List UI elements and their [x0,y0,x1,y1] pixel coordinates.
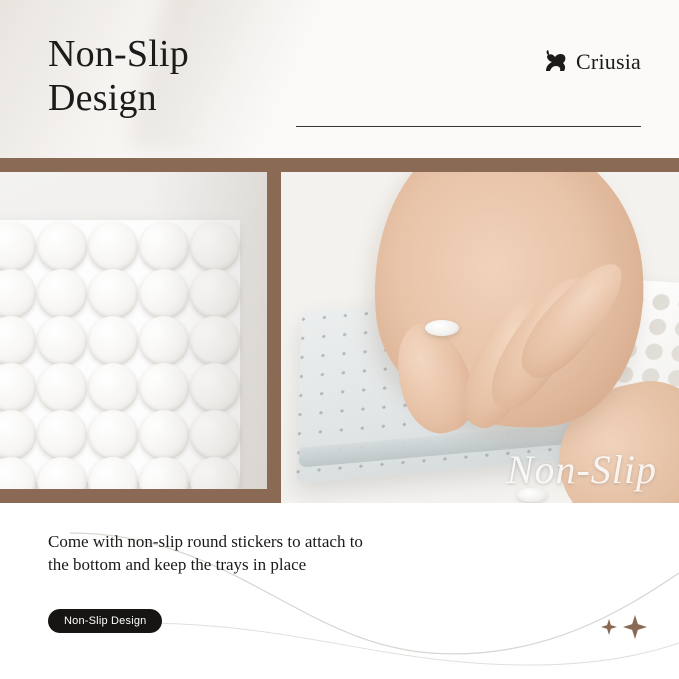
sticker-dot [88,410,138,460]
sticker-dot [0,457,36,489]
sticker-dot [88,222,138,272]
sparkle-icon [623,615,647,639]
brand-logo-group: Criusia [543,48,641,76]
sticker-dot [37,222,87,272]
sticker-dot [88,316,138,366]
sticker-dot [0,222,36,272]
sticker-in-hand [425,320,459,336]
sparkle-icon [601,619,617,635]
status-badge: Non-Slip Design [48,609,162,633]
header-section: Non-Slip Design Criusia [0,0,679,158]
footer-section: Come with non-slip round stickers to att… [0,503,679,679]
image-watermark: Non-Slip [507,446,657,493]
sticker-dot [37,410,87,460]
sticker-dot [37,457,87,489]
page-title: Non-Slip Design [48,32,189,120]
panel-shadow [150,172,267,489]
sticker-dot [0,316,36,366]
kangaroo-icon [543,48,571,76]
sticker-dot [88,269,138,319]
caption-text: Come with non-slip round stickers to att… [48,530,428,576]
sticker-dot [37,316,87,366]
sticker-dot [0,269,36,319]
sticker-dot [0,363,36,413]
sticker-dot [88,363,138,413]
sticker-dot [37,363,87,413]
sticker-dot [37,269,87,319]
sparkle-group [601,615,647,639]
sticker-dot [88,457,138,489]
gallery-band: Non-Slip [0,158,679,503]
sticker-dot [0,410,36,460]
header-divider [296,126,641,127]
brand-name: Criusia [576,49,641,75]
hand-applying-sticker: Non-Slip [281,172,679,503]
product-infographic: Non-Slip Design Criusia [0,0,679,679]
sticker-sheet-closeup [0,172,267,489]
